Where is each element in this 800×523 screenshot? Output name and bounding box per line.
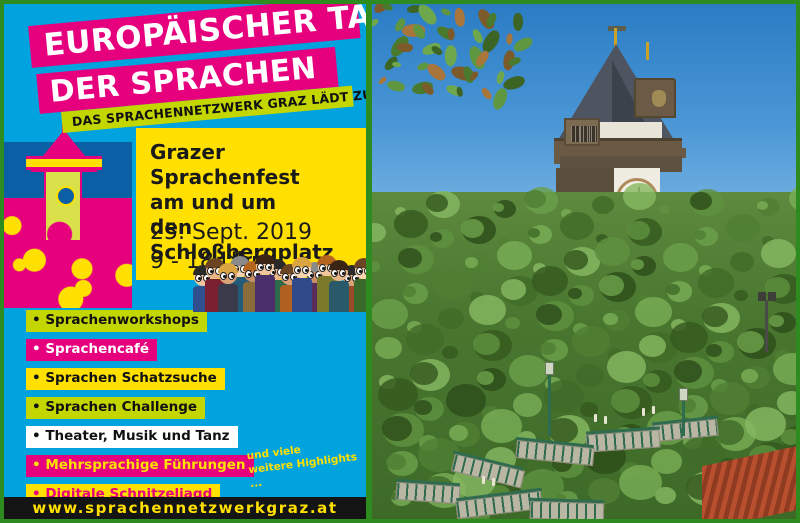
foliage-blob: [406, 324, 444, 355]
leaf: [372, 18, 380, 29]
foliage-blob: [438, 308, 464, 329]
visitor-figure: [642, 408, 645, 416]
program-item: • Sprachenworkshops: [26, 310, 207, 332]
event-date: 25. Sept. 2019: [150, 218, 312, 247]
foliage-blob: [501, 279, 526, 300]
foliage-blob: [524, 190, 546, 208]
lamp-post: [682, 400, 685, 436]
leaf: [457, 86, 464, 97]
leaf: [425, 60, 448, 83]
visitor-figure: [604, 416, 607, 424]
leaf: [454, 8, 465, 27]
visitor-figure: [652, 406, 655, 414]
bell-icon: [652, 90, 666, 107]
foliage-blob: [528, 228, 540, 238]
leaf: [440, 7, 451, 17]
website-url[interactable]: www.sprachennetzwerkgraz.at: [32, 499, 337, 517]
foliage-blob: [592, 196, 614, 214]
foliage-blob: [430, 232, 442, 242]
foliage-blob: [670, 322, 708, 353]
foliage-blob: [426, 194, 448, 212]
program-item: • Mehrsprachige Führungen: [26, 455, 254, 477]
foliage-blob: [694, 230, 706, 240]
leaf: [411, 22, 426, 40]
foliage-blob: [599, 275, 624, 296]
foliage-blob: [434, 270, 470, 300]
foliage-blob: [560, 212, 594, 240]
lamp-head-icon: [545, 362, 554, 375]
foliage-blob: [726, 214, 760, 242]
weather-vane-icon: [608, 26, 626, 31]
foliage-blob: [745, 407, 786, 441]
popart-clocktower-illustration: [4, 112, 132, 308]
foliage-blob: [572, 326, 610, 357]
leaf: [447, 28, 454, 40]
foliage-blob: [465, 257, 478, 268]
program-item: • Sprachen Challenge: [26, 397, 205, 419]
poster-image: EUROPÄISCHER TAG DER SPRACHEN DAS SPRACH…: [0, 0, 800, 523]
foliage-blob: [690, 192, 712, 210]
highlights-note: und viele weitere Highlights ...: [246, 435, 366, 491]
foliage-blob: [595, 237, 630, 266]
foliage-blob: [497, 241, 532, 270]
foliage-blob: [505, 317, 520, 329]
foliage-blob: [761, 239, 796, 268]
leaf: [506, 33, 514, 45]
program-item: • Sprachencafé: [26, 339, 157, 361]
stair-segment: [530, 501, 605, 519]
foliage-blob: [639, 335, 666, 357]
cartoon-person: [217, 267, 239, 312]
foliage-blob: [710, 382, 750, 415]
foliage-blob: [540, 342, 556, 355]
leaf: [421, 81, 436, 97]
foliage-blob: [372, 223, 386, 242]
visitor-figure: [594, 414, 597, 422]
program-item: • Sprachen Schatzsuche: [26, 368, 225, 390]
foliage-blob: [372, 299, 408, 329]
foliage-blob: [398, 248, 422, 268]
leaf: [512, 13, 523, 32]
foliage-blob: [469, 295, 506, 325]
cartoon-person: [254, 258, 276, 312]
program-list: • Sprachenworkshops• Sprachencafé• Sprac…: [26, 310, 254, 513]
bell-housing: [634, 78, 676, 118]
event-title-line-1: Grazer Sprachenfest: [150, 140, 366, 190]
overhanging-branch: [372, 4, 522, 114]
foliage-blob: [730, 252, 754, 272]
poster-left-panel: EUROPÄISCHER TAG DER SPRACHEN DAS SPRACH…: [4, 4, 366, 519]
foliage-blob: [564, 250, 588, 270]
leaf: [443, 45, 457, 67]
program-item: • Theater, Musik und Tanz: [26, 426, 238, 448]
leaf: [480, 86, 493, 101]
leaf: [386, 78, 406, 93]
cartoon-person: [291, 261, 313, 312]
foliage-blob: [734, 290, 748, 301]
leaf: [490, 87, 510, 112]
foliage-blob: [741, 369, 758, 383]
cartoon-people-row: [192, 262, 366, 312]
cartoon-person: [328, 264, 350, 312]
event-title-line-2: am und um: [150, 190, 366, 215]
tower-window: [564, 118, 600, 146]
clocktower-photo: [372, 4, 796, 519]
visitor-figure: [492, 478, 495, 486]
website-bar[interactable]: www.sprachennetzwerkgraz.at: [4, 497, 366, 519]
foliage-blob: [372, 261, 380, 272]
poster-inner: EUROPÄISCHER TAG DER SPRACHEN DAS SPRACH…: [4, 4, 796, 519]
foliage-blob: [532, 266, 568, 296]
foliage-blob: [631, 259, 644, 270]
foliage-blob: [635, 297, 672, 327]
foliage-blob: [659, 205, 670, 214]
foliage-blob: [461, 219, 484, 238]
foliage-blob: [623, 183, 656, 210]
lamp-post: [548, 374, 551, 436]
foliage-blob: [394, 210, 428, 238]
cartoon-person: [353, 262, 366, 312]
foliage-blob: [663, 243, 698, 272]
foliage-blob: [627, 221, 650, 240]
lamp-head-icon: [679, 388, 688, 401]
foliage-blob: [493, 203, 504, 212]
foliage-blob: [473, 333, 500, 355]
floodlight-pole: [754, 292, 780, 352]
stairway-structure: [390, 356, 690, 506]
foliage-blob: [706, 344, 722, 357]
foliage-blob: [757, 201, 768, 210]
foliage-blob: [698, 268, 734, 298]
leaf: [430, 44, 443, 57]
visitor-figure: [482, 476, 485, 484]
